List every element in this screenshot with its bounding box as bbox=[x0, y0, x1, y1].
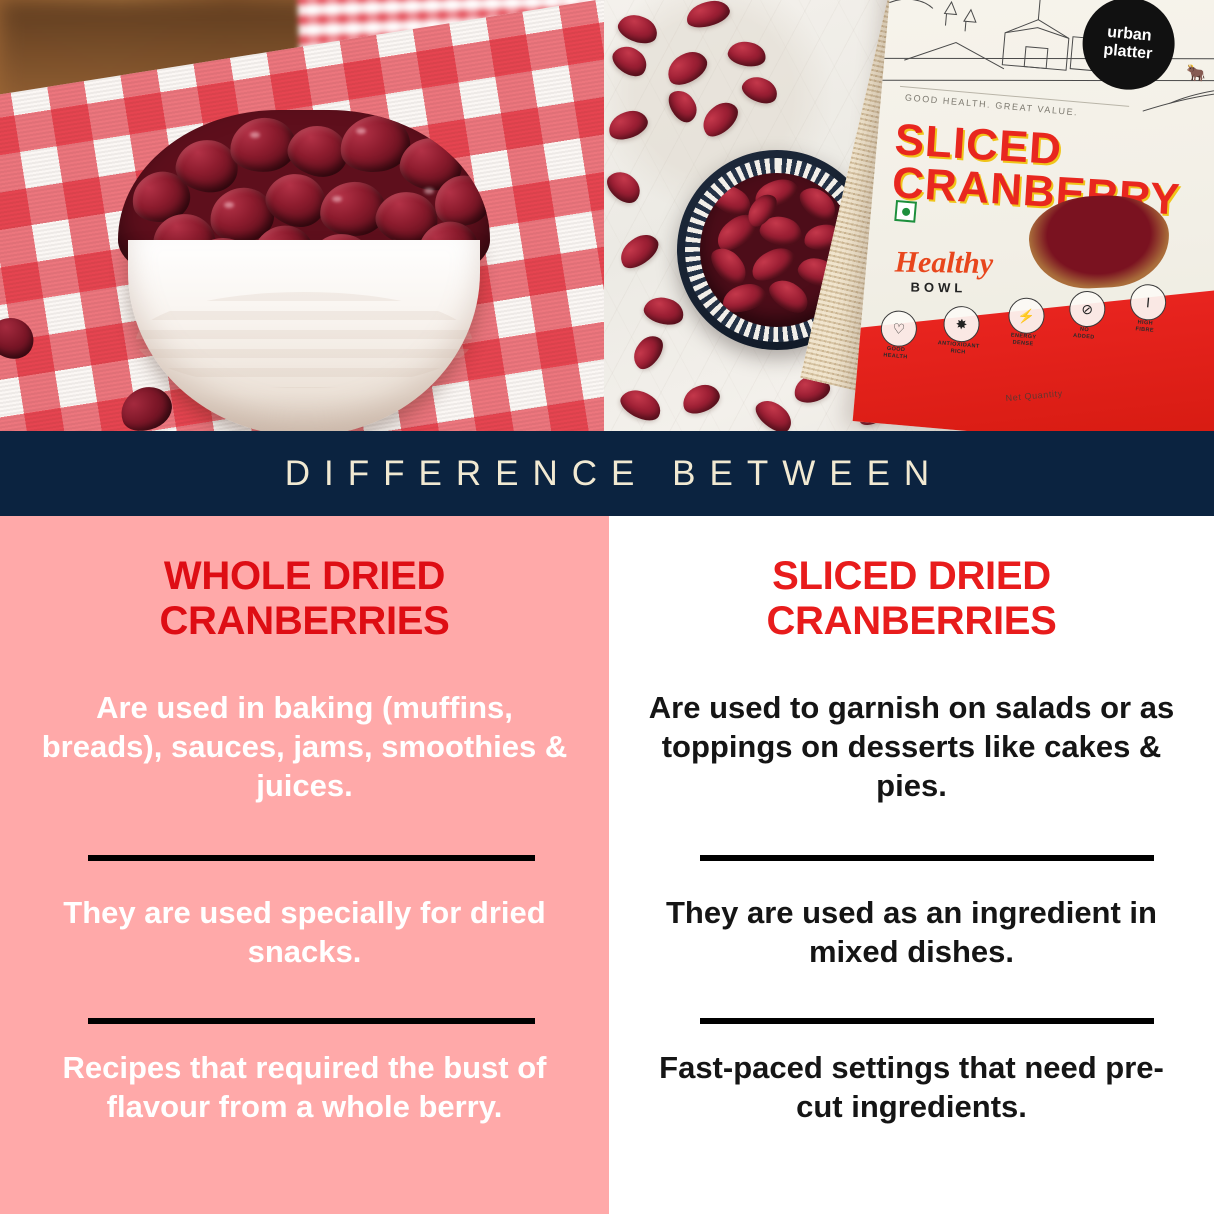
left-divider-1 bbox=[88, 855, 535, 861]
column-whole-dried-cranberries: WHOLE DRIED CRANBERRIES Are used in baki… bbox=[0, 516, 609, 1214]
healthy-bowl-script: Healthy bbox=[894, 245, 993, 281]
vegetarian-mark-icon bbox=[894, 200, 917, 223]
right-divider-1 bbox=[700, 855, 1154, 861]
left-divider-2 bbox=[88, 1018, 535, 1024]
right-point-1: Are used to garnish on salads or as topp… bbox=[643, 688, 1180, 805]
left-column-heading: WHOLE DRIED CRANBERRIES bbox=[34, 516, 575, 644]
healthy-bowl-word: BOWL bbox=[910, 279, 966, 295]
brand-line-2: platter bbox=[1103, 41, 1153, 64]
difference-banner: DIFFERENCE BETWEEN bbox=[0, 431, 1214, 516]
right-divider-2 bbox=[700, 1018, 1154, 1024]
comparison-columns: WHOLE DRIED CRANBERRIES Are used in baki… bbox=[0, 516, 1214, 1214]
left-point-3: Recipes that required the bust of flavou… bbox=[34, 1048, 575, 1126]
ox-mascot-icon: 🐂 bbox=[1185, 63, 1207, 85]
product-package: GOOD HEALTH. GREAT VALUE. urban platter … bbox=[853, 0, 1214, 431]
right-point-3: Fast-paced settings that need pre-cut in… bbox=[643, 1048, 1180, 1126]
column-sliced-dried-cranberries: SLICED DRIED CRANBERRIES Are used to gar… bbox=[609, 516, 1214, 1214]
photo-whole-dried-cranberries bbox=[0, 0, 604, 431]
photo-sliced-dried-cranberries: GOOD HEALTH. GREAT VALUE. urban platter … bbox=[604, 0, 1214, 431]
right-column-heading: SLICED DRIED CRANBERRIES bbox=[643, 516, 1180, 644]
banner-title: DIFFERENCE BETWEEN bbox=[271, 454, 943, 494]
right-point-2: They are used as an ingredient in mixed … bbox=[643, 893, 1180, 971]
left-point-2: They are used specially for dried snacks… bbox=[34, 893, 575, 971]
photo-strip: GOOD HEALTH. GREAT VALUE. urban platter … bbox=[0, 0, 1214, 431]
infographic-root: GOOD HEALTH. GREAT VALUE. urban platter … bbox=[0, 0, 1214, 1214]
left-point-1: Are used in baking (muffins, breads), sa… bbox=[34, 688, 575, 805]
